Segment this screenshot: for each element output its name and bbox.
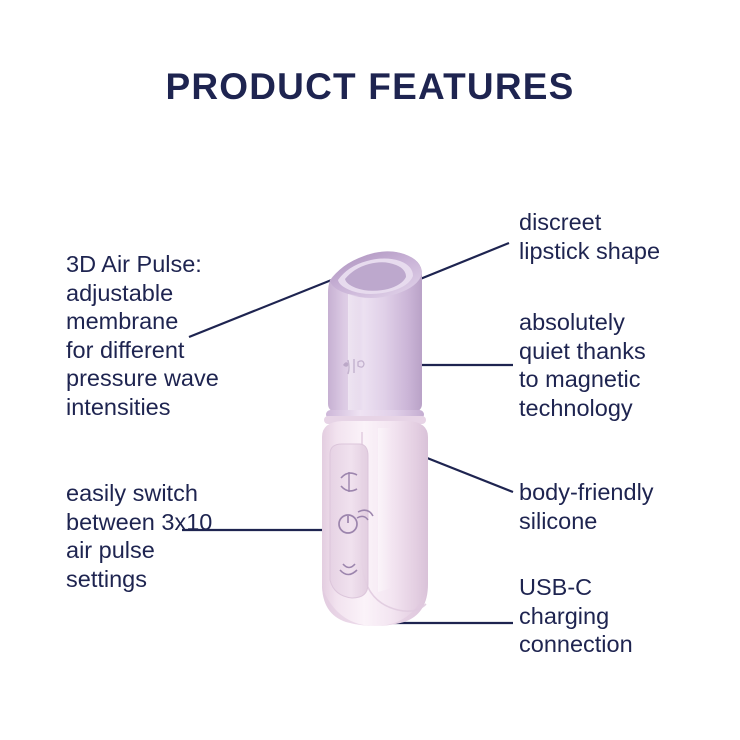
product-cap (328, 251, 422, 414)
feature-text-lipstick-shape: discreet lipstick shape (519, 208, 729, 265)
feature-text-switch-settings: easily switch between 3x10 air pulse set… (66, 479, 281, 593)
feature-text-body-friendly: body-friendly silicone (519, 478, 729, 535)
infographic-canvas: PRODUCT FEATURES (0, 0, 740, 740)
product-body (322, 421, 428, 626)
feature-text-quiet-magnetic: absolutely quiet thanks to magnetic tech… (519, 308, 729, 422)
feature-text-usb-c: USB-C charging connection (519, 573, 729, 659)
feature-text-air-pulse: 3D Air Pulse: adjustable membrane for di… (66, 250, 281, 421)
product-illustration (300, 232, 450, 637)
